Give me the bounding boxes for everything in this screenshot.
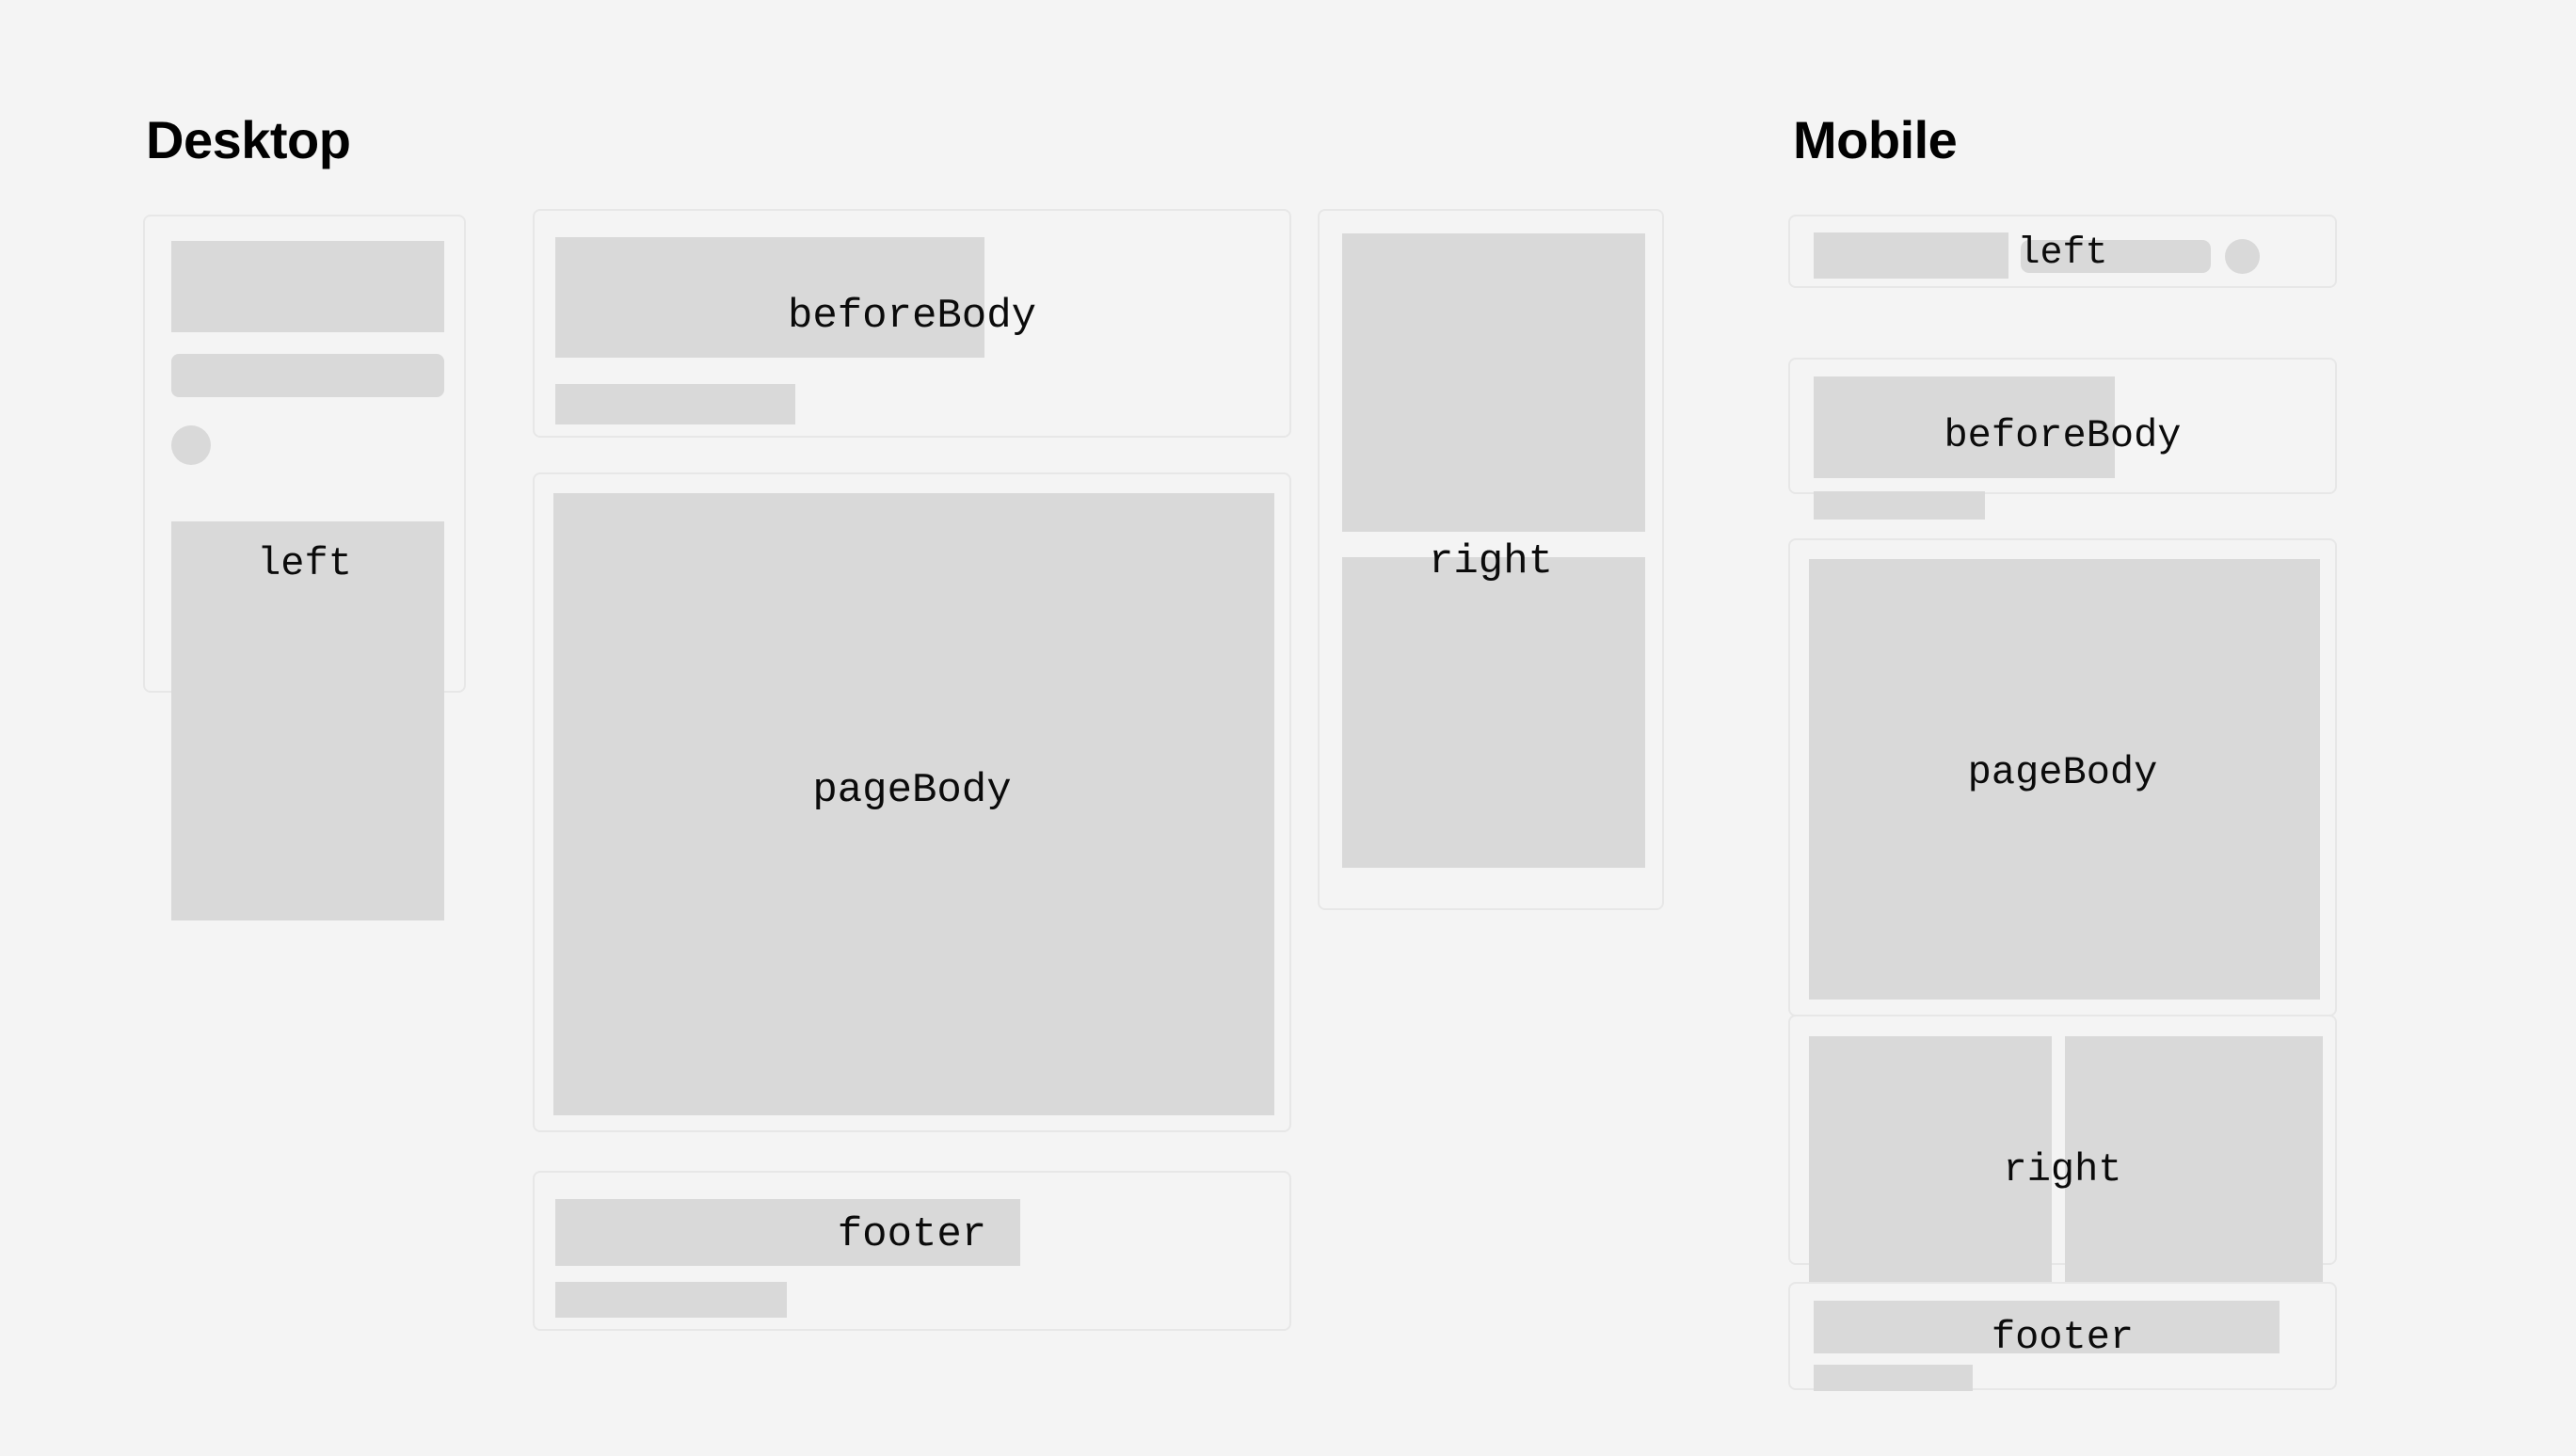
skeleton-bar (1814, 1365, 1973, 1391)
skeleton-block (1814, 232, 2008, 279)
skeleton-block (171, 521, 444, 920)
skeleton-bar (555, 384, 795, 424)
skeleton-block (1342, 233, 1645, 532)
mobile-right-slot-panel[interactable] (1788, 1015, 2337, 1265)
desktop-footer-slot-panel[interactable] (533, 1171, 1291, 1331)
desktop-right-slot-panel[interactable] (1318, 209, 1664, 910)
mobile-footer-slot-panel[interactable] (1788, 1282, 2337, 1390)
skeleton-avatar-circle (2225, 239, 2260, 274)
skeleton-block (1809, 1036, 2052, 1296)
skeleton-block (1814, 1301, 2280, 1353)
mobile-section-title: Mobile (1793, 114, 1957, 167)
skeleton-bar (2021, 240, 2211, 273)
skeleton-block (1342, 557, 1645, 868)
skeleton-block (2065, 1036, 2323, 1296)
skeleton-block (1814, 376, 2115, 478)
skeleton-bar (171, 354, 444, 397)
skeleton-block (1809, 559, 2320, 1000)
desktop-section-title: Desktop (146, 114, 350, 167)
skeleton-bar (1814, 491, 1985, 520)
skeleton-bar (555, 1282, 787, 1318)
skeleton-block (171, 241, 444, 332)
skeleton-avatar-circle (171, 425, 211, 465)
skeleton-block (553, 493, 1274, 1115)
skeleton-block (555, 237, 984, 358)
desktop-beforebody-slot-panel[interactable] (533, 209, 1291, 438)
mobile-left-slot-panel[interactable] (1788, 215, 2337, 288)
mobile-beforebody-slot-panel[interactable] (1788, 358, 2337, 494)
desktop-left-slot-panel[interactable] (143, 215, 466, 693)
mobile-pagebody-slot-panel[interactable] (1788, 538, 2337, 1016)
skeleton-block (555, 1199, 1020, 1266)
desktop-pagebody-slot-panel[interactable] (533, 472, 1291, 1132)
